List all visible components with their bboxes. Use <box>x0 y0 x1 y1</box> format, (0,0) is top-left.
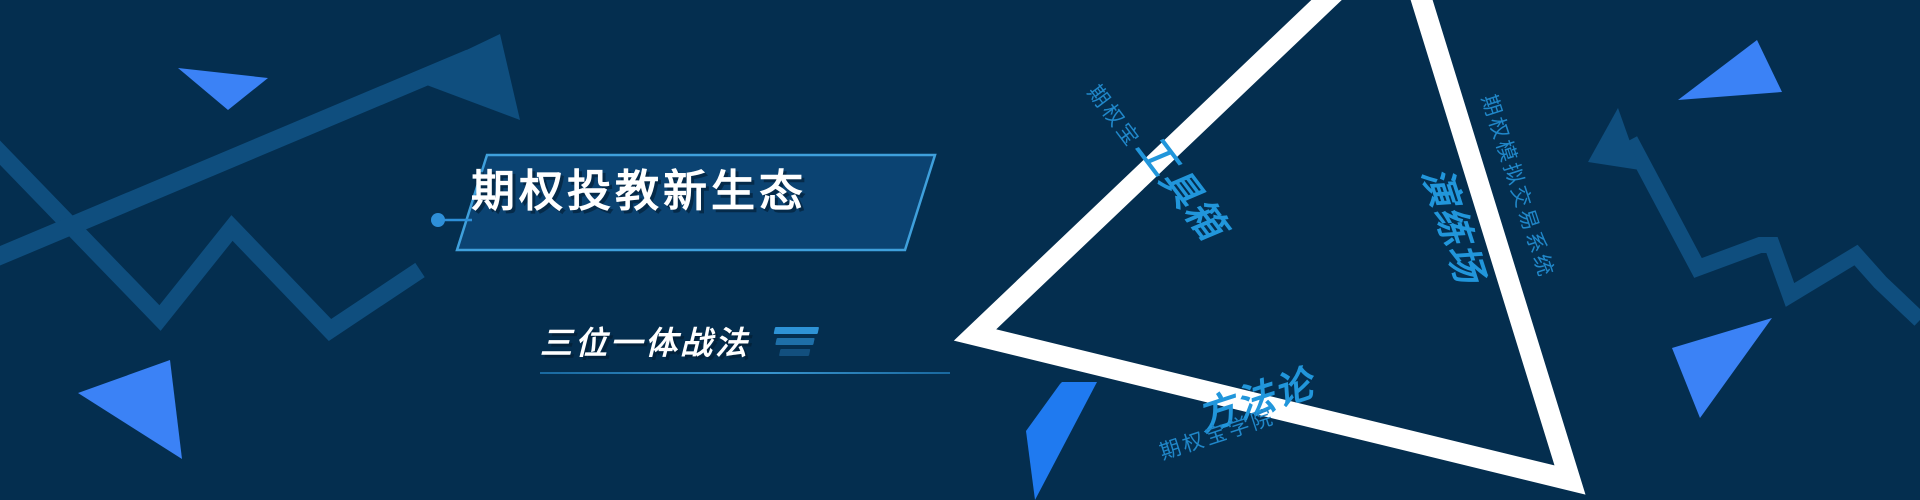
three-bars-icon <box>769 327 819 356</box>
subtitle-divider <box>540 372 950 374</box>
subtitle-label: 三位一体战法 <box>540 318 750 364</box>
subtitle-row: 三位一体战法 <box>540 318 816 364</box>
title-plate-layer <box>0 0 1920 500</box>
page-title: 期权投教新生态 <box>474 152 804 222</box>
banner-root: 期权投教新生态 三位一体战法 期权宝 工具箱 期权模拟交易系统 演练场 方法论 … <box>0 0 1920 500</box>
title-connector-dot <box>431 213 445 227</box>
